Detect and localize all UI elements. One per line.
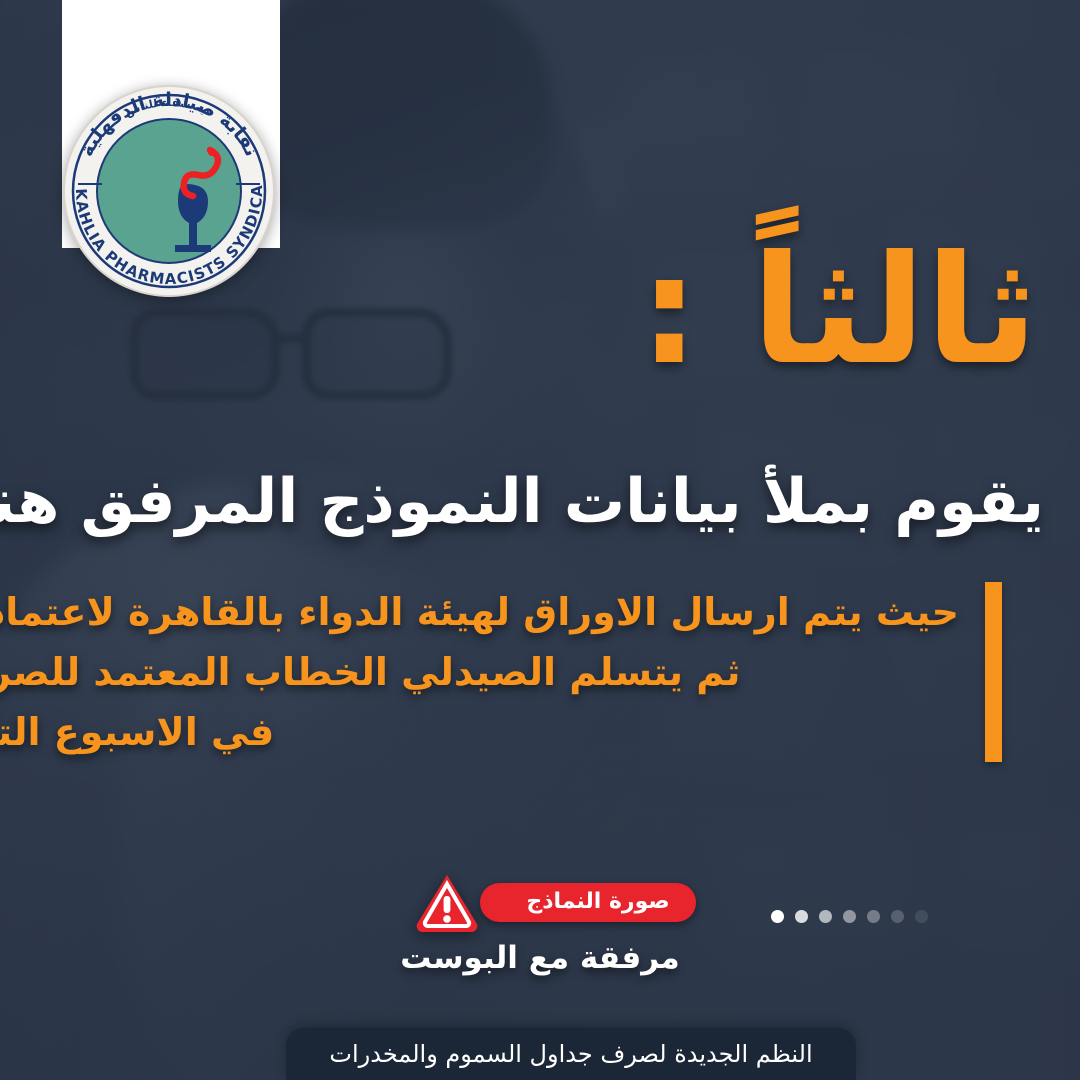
body-text-block: حيث يتم ارسال الاوراق لهيئة الدواء بالقا… [0, 582, 1002, 762]
pagination-dot [891, 910, 904, 923]
orange-accent-bar [985, 582, 1002, 762]
warning-triangle-icon [414, 872, 480, 932]
body-line-2: ثم يتسلم الصيدلي الخطاب المعتمد للصرف .. [0, 642, 959, 702]
pagination-dot [819, 910, 832, 923]
pagination-dot [915, 910, 928, 923]
forms-badge-row: صورة النماذج [414, 872, 665, 932]
pagination-dot [867, 910, 880, 923]
pagination-dots [771, 910, 928, 923]
poster-canvas: فيه شفاء للناس نقابة صيادلة الدقهلية DAK… [0, 0, 1080, 1080]
syndicate-logo: فيه شفاء للناس نقابة صيادلة الدقهلية DAK… [62, 84, 276, 298]
page-title: يقوم بملأ بيانات النموذج المرفق هناك [36, 466, 1044, 538]
body-line-3: في الاسبوع التالي . [0, 702, 959, 762]
pagination-dot [795, 910, 808, 923]
page-kicker: ثالثاً : [639, 236, 1038, 386]
forms-attachment-note: صورة النماذج مرفقة مع البوست [0, 872, 1080, 976]
body-line-1: حيث يتم ارسال الاوراق لهيئة الدواء بالقا… [0, 582, 959, 642]
pagination-dot [843, 910, 856, 923]
pagination-dot [771, 910, 784, 923]
status-badge: صورة النماذج [480, 883, 695, 922]
bottom-title-bar: النظم الجديدة لصرف جداول السموم والمخدرا… [286, 1028, 856, 1080]
body-lines: حيث يتم ارسال الاوراق لهيئة الدواء بالقا… [0, 582, 959, 762]
forms-caption: مرفقة مع البوست [400, 940, 680, 976]
